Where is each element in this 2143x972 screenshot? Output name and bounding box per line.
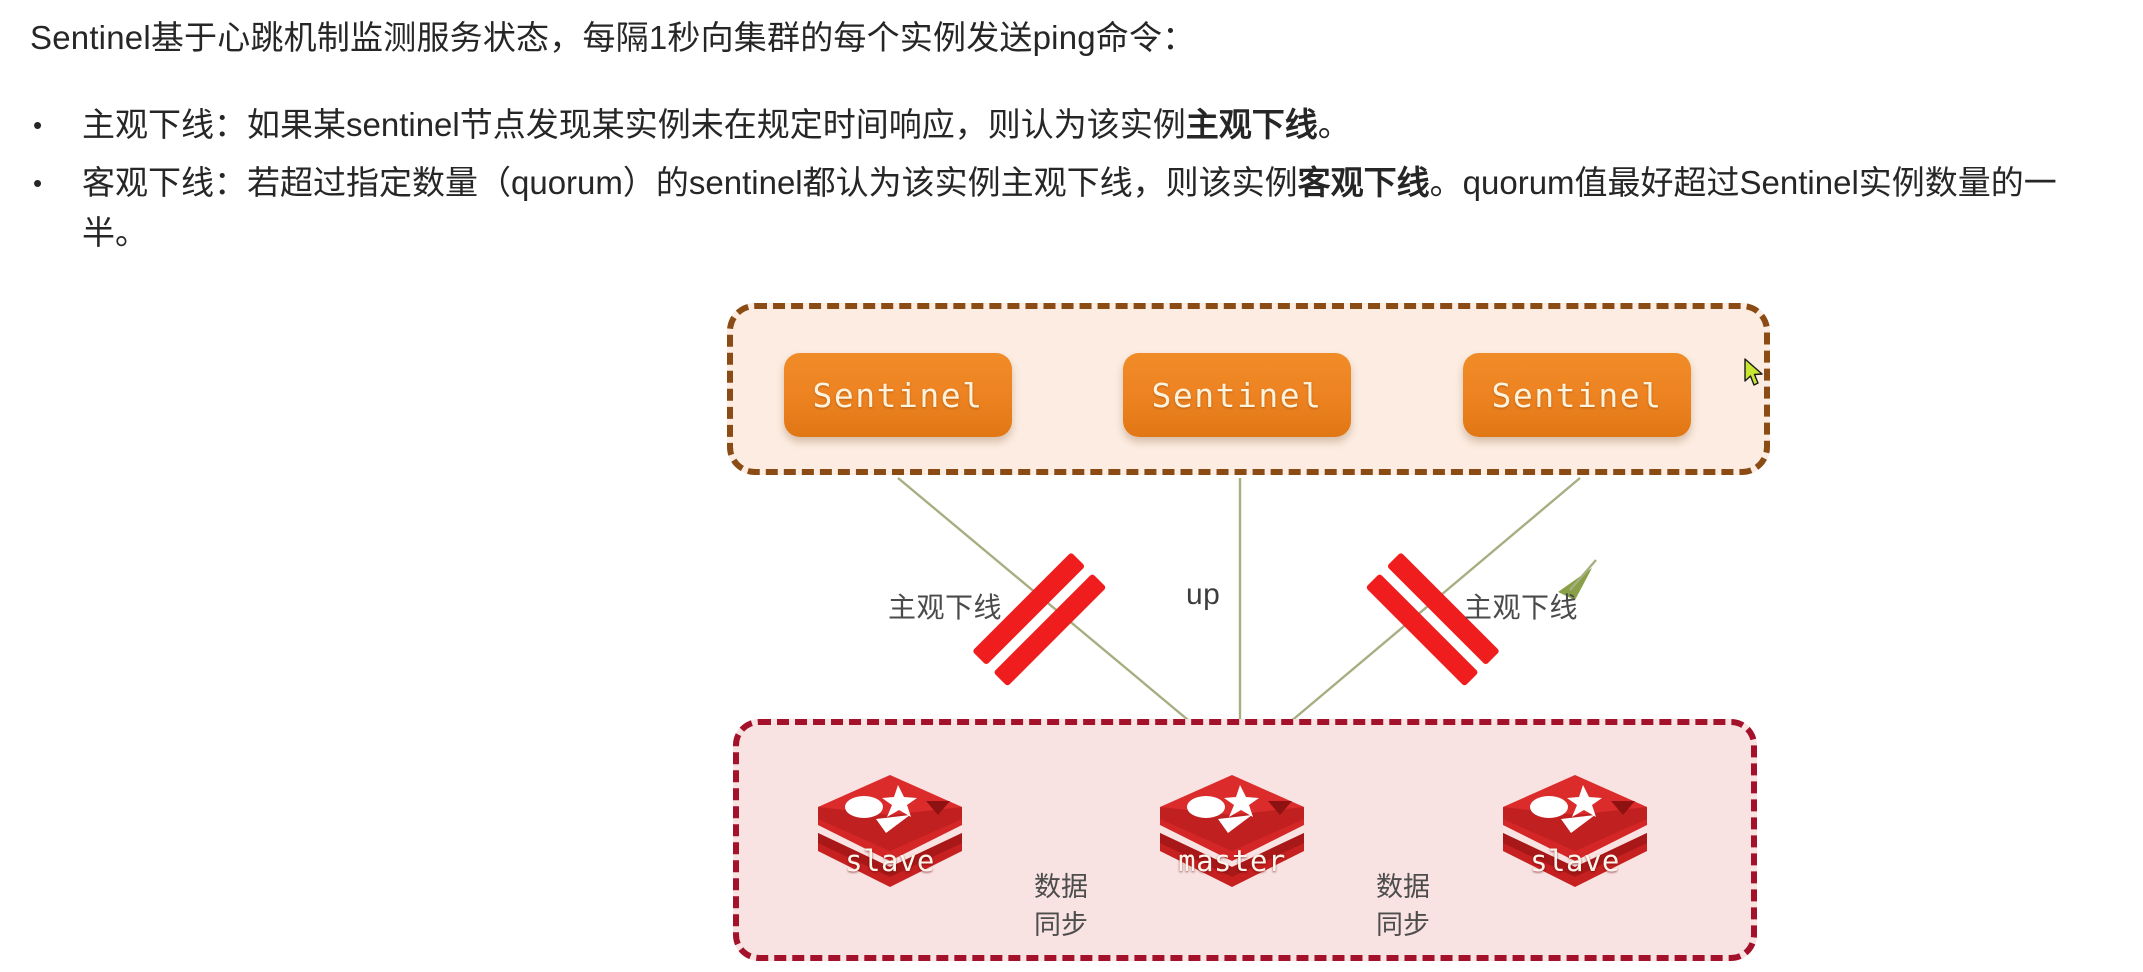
mouse-cursor-icon <box>1744 358 1766 388</box>
label-data-sync-left: 数据 同步 <box>1006 868 1116 944</box>
label-subjective-down-left: 主观下线 <box>888 586 1002 626</box>
redis-node-slave-right[interactable]: slave <box>1499 771 1651 901</box>
redis-node-slave-left[interactable]: slave <box>814 771 966 901</box>
redis-cluster-container: slave master <box>733 719 1757 961</box>
label-up-status: up <box>1186 578 1220 612</box>
sentinel-node-label: Sentinel <box>813 376 984 415</box>
label-subjective-down-right: 主观下线 <box>1464 586 1578 626</box>
label-data-sync-right: 数据 同步 <box>1348 868 1458 944</box>
label-data-sync-right-line2: 同步 <box>1348 906 1458 944</box>
sentinel-node-label: Sentinel <box>1492 376 1663 415</box>
redis-logo-icon <box>1156 771 1308 901</box>
sentinel-node[interactable]: Sentinel <box>1123 353 1351 437</box>
redis-logo-icon <box>814 771 966 901</box>
sentinel-node-label: Sentinel <box>1152 376 1323 415</box>
sentinel-node[interactable]: Sentinel <box>784 353 1012 437</box>
label-data-sync-left-line2: 同步 <box>1006 906 1116 944</box>
sentinel-architecture-diagram: Sentinel Sentinel Sentinel <box>0 0 2143 972</box>
label-data-sync-left-line1: 数据 <box>1006 868 1116 906</box>
redis-logo-icon <box>1499 771 1651 901</box>
redis-node-master[interactable]: master <box>1156 771 1308 901</box>
sentinel-node[interactable]: Sentinel <box>1463 353 1691 437</box>
label-data-sync-right-line1: 数据 <box>1348 868 1458 906</box>
sentinel-cluster-container: Sentinel Sentinel Sentinel <box>727 303 1770 475</box>
